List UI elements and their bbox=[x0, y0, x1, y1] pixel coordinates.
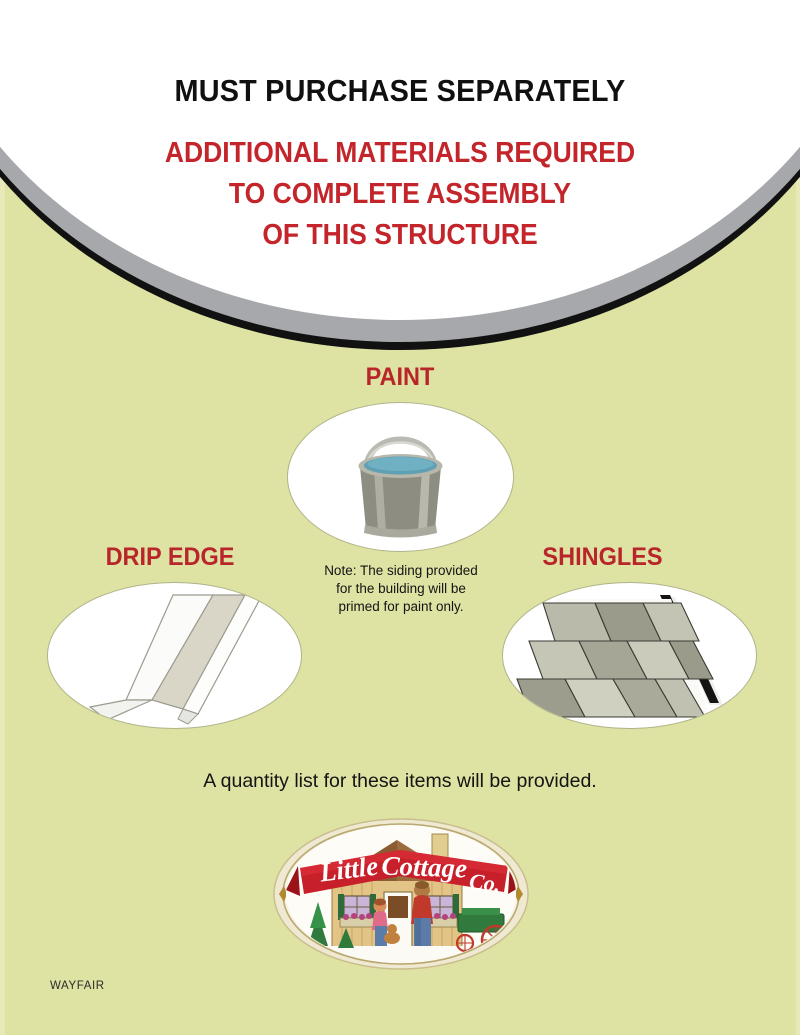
page-title: MUST PURCHASE SEPARATELY bbox=[28, 0, 772, 109]
subtitle-line-3: OF THIS STRUCTURE bbox=[28, 215, 772, 256]
item-label-shingles: SHINGLES bbox=[459, 543, 746, 572]
subtitle-line-1: ADDITIONAL MATERIALS REQUIRED bbox=[28, 133, 772, 174]
header-block: MUST PURCHASE SEPARATELY ADDITIONAL MATE… bbox=[0, 0, 800, 256]
page-subtitle: ADDITIONAL MATERIALS REQUIRED TO COMPLET… bbox=[28, 109, 772, 256]
item-label-paint: PAINT bbox=[283, 363, 518, 392]
svg-text:Cottage: Cottage bbox=[381, 851, 468, 884]
drip-edge-icon bbox=[48, 583, 301, 728]
little-cottage-co-logo: Little Cottage Co. ® bbox=[272, 818, 530, 970]
paint-bucket-icon bbox=[288, 403, 513, 551]
quantity-note: A quantity list for these items will be … bbox=[0, 770, 800, 793]
poster-root: MUST PURCHASE SEPARATELY ADDITIONAL MATE… bbox=[0, 0, 800, 1035]
subtitle-line-2: TO COMPLETE ASSEMBLY bbox=[28, 174, 772, 215]
shingles-icon bbox=[503, 583, 756, 728]
svg-text:Co.: Co. bbox=[468, 868, 502, 897]
wayfair-watermark: WAYFAIR bbox=[50, 980, 105, 992]
item-label-drip-edge: DRIP EDGE bbox=[53, 543, 288, 572]
svg-text:®: ® bbox=[468, 854, 474, 862]
